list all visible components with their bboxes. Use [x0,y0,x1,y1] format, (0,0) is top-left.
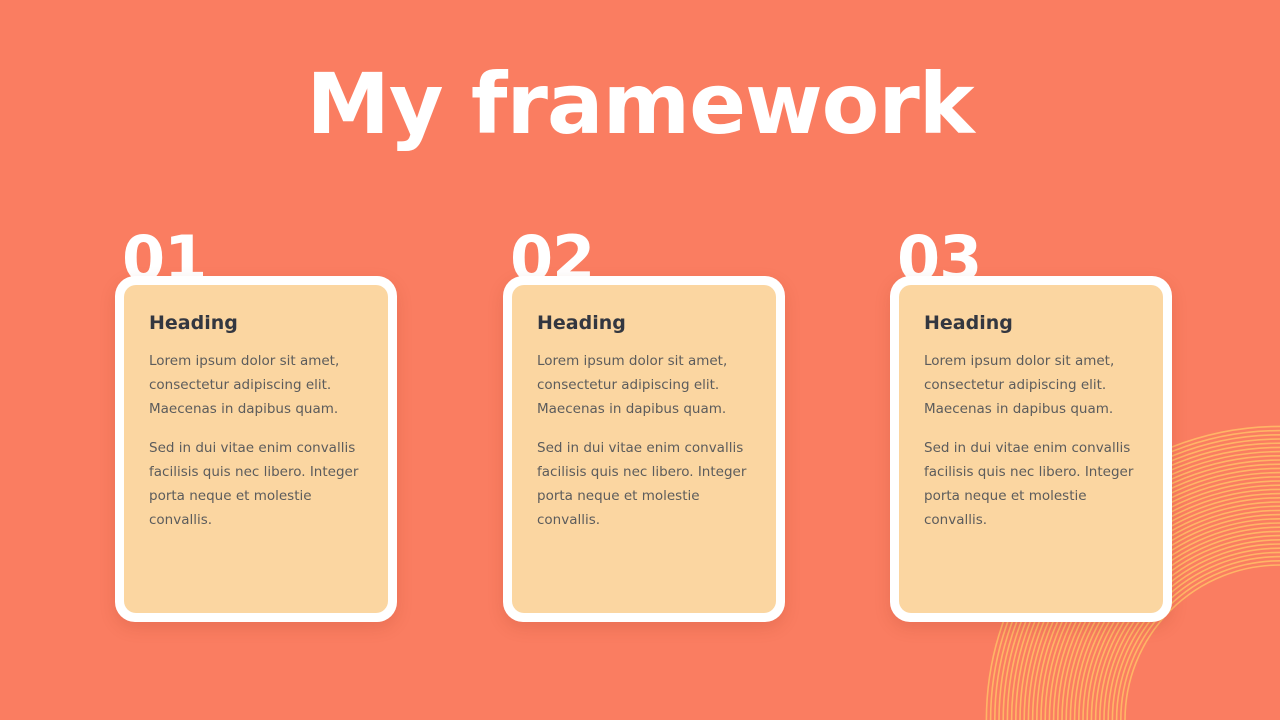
framework-card[interactable]: 03 Heading Lorem ipsum dolor sit amet, c… [890,232,1172,624]
framework-card[interactable]: 02 Heading Lorem ipsum dolor sit amet, c… [503,232,785,624]
card-body: Heading Lorem ipsum dolor sit amet, cons… [512,285,776,613]
card-paragraph-2: Sed in dui vitae enim convallis facilisi… [924,436,1139,532]
card-paragraph-1: Lorem ipsum dolor sit amet, consectetur … [924,349,1139,421]
card-body: Heading Lorem ipsum dolor sit amet, cons… [899,285,1163,613]
framework-cards-row: 01 Heading Lorem ipsum dolor sit amet, c… [115,232,1175,632]
card-body: Heading Lorem ipsum dolor sit amet, cons… [124,285,388,613]
card-frame: Heading Lorem ipsum dolor sit amet, cons… [115,276,397,622]
card-heading: Heading [537,312,752,335]
card-paragraph-1: Lorem ipsum dolor sit amet, consectetur … [149,349,364,421]
card-heading: Heading [924,312,1139,335]
card-frame: Heading Lorem ipsum dolor sit amet, cons… [890,276,1172,622]
card-paragraph-2: Sed in dui vitae enim convallis facilisi… [537,436,752,532]
card-paragraph-2: Sed in dui vitae enim convallis facilisi… [149,436,364,532]
card-frame: Heading Lorem ipsum dolor sit amet, cons… [503,276,785,622]
framework-card[interactable]: 01 Heading Lorem ipsum dolor sit amet, c… [115,232,397,624]
card-heading: Heading [149,312,364,335]
card-paragraph-1: Lorem ipsum dolor sit amet, consectetur … [537,349,752,421]
page-title: My framework [0,62,1280,146]
